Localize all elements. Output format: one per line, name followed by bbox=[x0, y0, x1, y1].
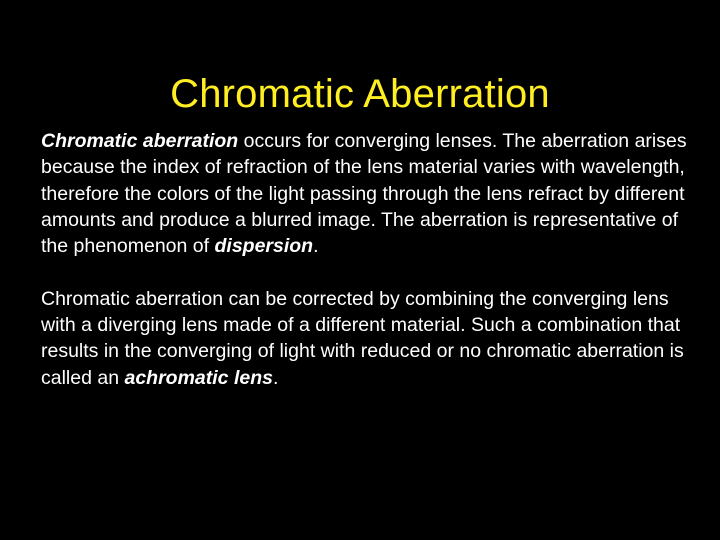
paragraph-2-period: . bbox=[273, 367, 278, 389]
term-chromatic-aberration: Chromatic aberration bbox=[41, 130, 238, 152]
body-paragraph-2: Chromatic aberration can be corrected by… bbox=[41, 286, 693, 391]
term-dispersion: dispersion bbox=[214, 235, 313, 257]
slide-body: Chromatic aberration occurs for convergi… bbox=[41, 128, 693, 391]
paragraph-1-period: . bbox=[313, 235, 318, 257]
page-title: Chromatic Aberration bbox=[0, 71, 720, 117]
term-achromatic-lens: achromatic lens bbox=[124, 367, 272, 389]
body-paragraph-1: Chromatic aberration occurs for convergi… bbox=[41, 128, 693, 259]
presentation-slide: Chromatic Aberration Chromatic aberratio… bbox=[0, 0, 720, 540]
